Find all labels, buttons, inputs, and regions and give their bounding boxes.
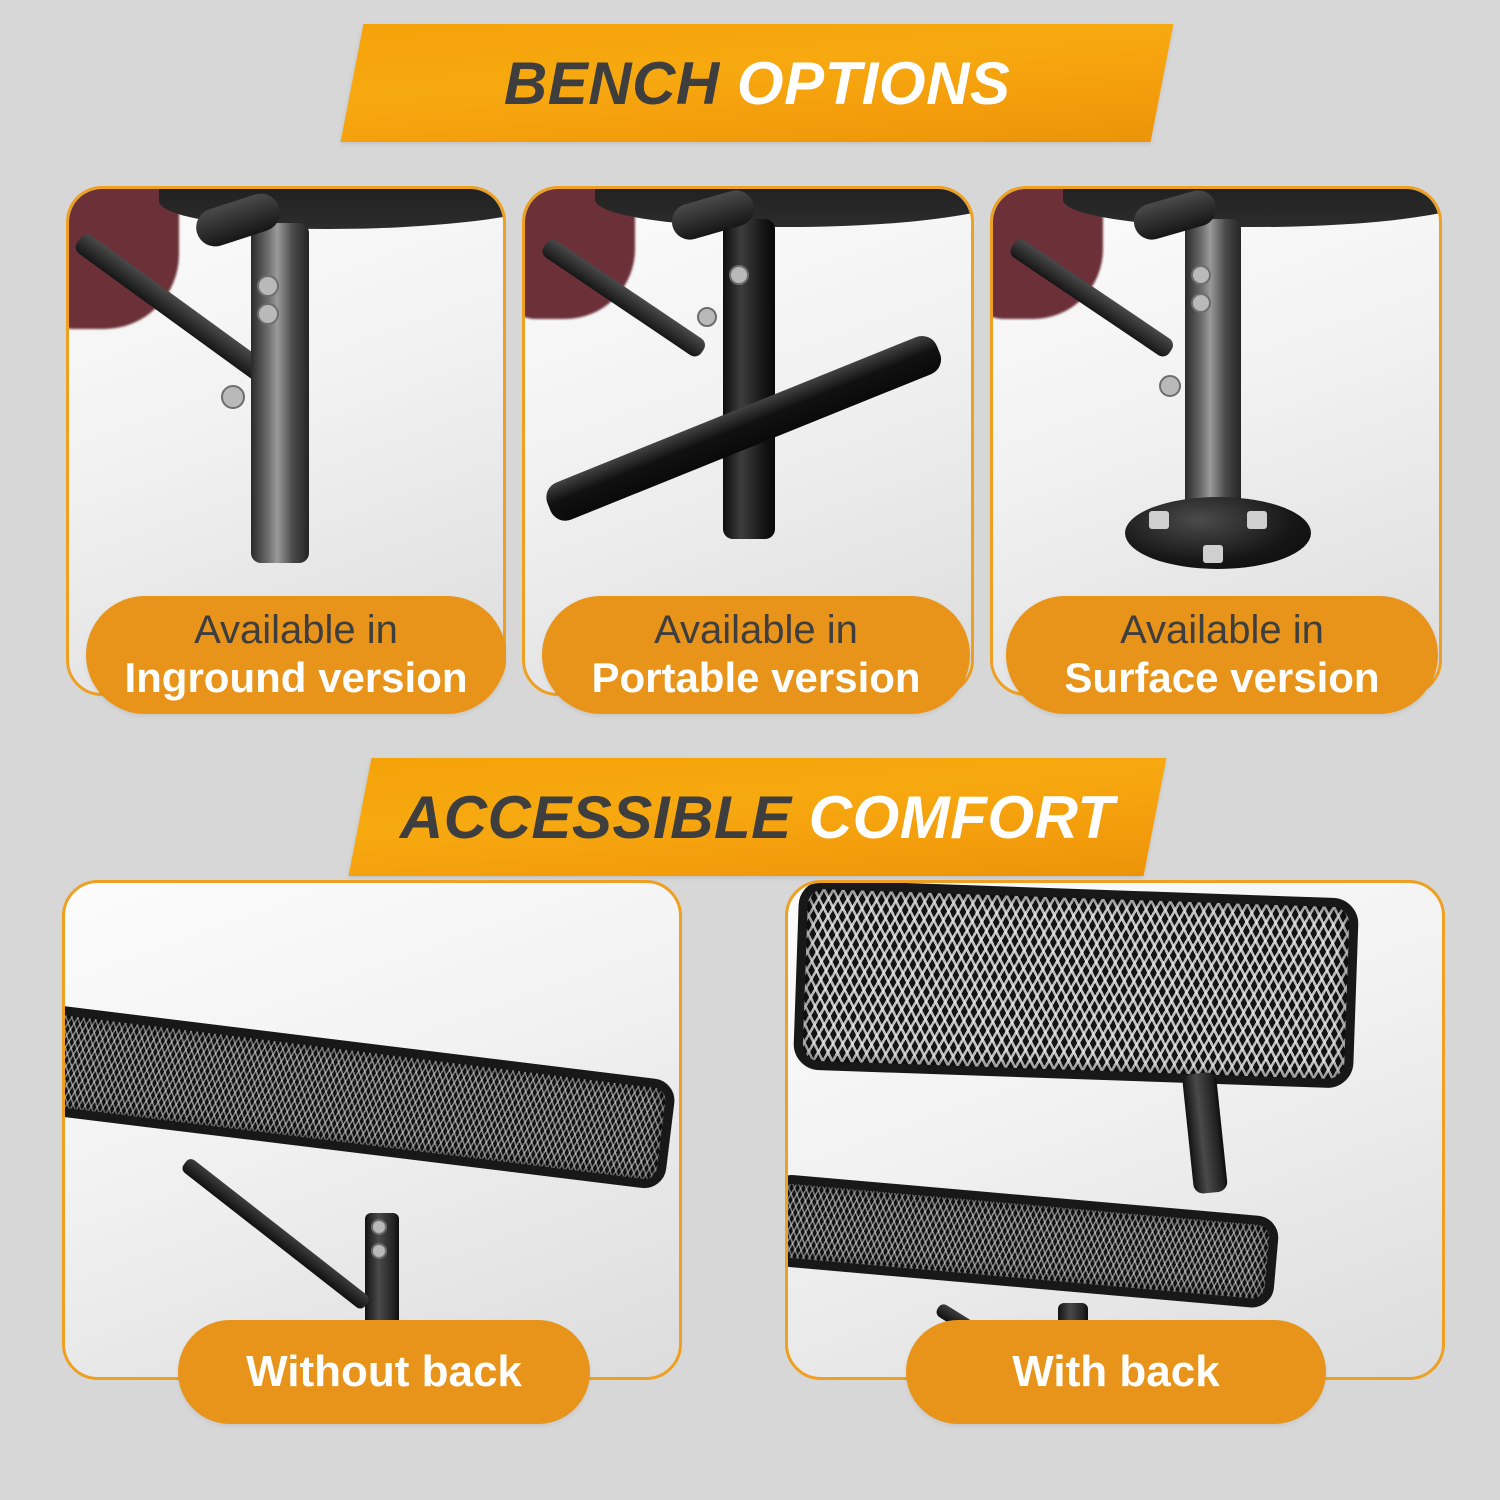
bolt-upper bbox=[257, 275, 279, 297]
caption-pill-without-back: Without back bbox=[178, 1320, 590, 1424]
tabletop-shape bbox=[1063, 186, 1442, 227]
caption-line-1: Available in bbox=[194, 608, 398, 654]
bolt-brace bbox=[221, 385, 245, 409]
bolt-brace bbox=[697, 307, 717, 327]
banner-word-dark: ACCESSIBLE bbox=[400, 784, 792, 851]
leg-post bbox=[251, 223, 309, 563]
caption-pill-with-back: With back bbox=[906, 1320, 1326, 1424]
caption-pill-inground: Available in Inground version bbox=[86, 596, 506, 714]
section-banner-accessible-comfort: ACCESSIBLE COMFORT bbox=[349, 758, 1167, 876]
caption-text: Without back bbox=[246, 1348, 522, 1396]
photo-card-with-back bbox=[785, 880, 1445, 1380]
bolt-upper bbox=[729, 265, 749, 285]
bench-seat-panel bbox=[785, 1173, 1280, 1309]
bench-seat-panel bbox=[62, 1003, 677, 1190]
caption-line-1: Available in bbox=[1120, 608, 1324, 654]
banner-word-dark: BENCH bbox=[504, 50, 720, 117]
infographic-page: BENCH OPTIONS Available in Inground vers… bbox=[0, 0, 1500, 1500]
bench-back-panel bbox=[793, 880, 1359, 1089]
anchor-bolt-right bbox=[1247, 511, 1267, 529]
banner-word-light: COMFORT bbox=[809, 784, 1115, 851]
caption-pill-portable: Available in Portable version bbox=[542, 596, 970, 714]
leg-post bbox=[723, 219, 775, 539]
caption-line-2: Surface version bbox=[1064, 654, 1379, 702]
leg-post bbox=[1185, 219, 1241, 529]
anchor-bolt-front bbox=[1203, 545, 1223, 563]
anchor-bolt-left bbox=[1149, 511, 1169, 529]
tabletop-shape bbox=[595, 186, 974, 227]
section-banner-bench-options: BENCH OPTIONS bbox=[341, 24, 1174, 142]
banner-word-light: OPTIONS bbox=[737, 50, 1011, 117]
bolt-lower bbox=[257, 303, 279, 325]
caption-line-1: Available in bbox=[654, 608, 858, 654]
caption-pill-surface: Available in Surface version bbox=[1006, 596, 1438, 714]
bolt-upper bbox=[371, 1219, 387, 1235]
caption-line-2: Portable version bbox=[591, 654, 920, 702]
bolt-brace bbox=[1159, 375, 1181, 397]
bolt-lower bbox=[371, 1243, 387, 1259]
photo-card-without-back bbox=[62, 880, 682, 1380]
bench-diagonal-brace bbox=[180, 1157, 371, 1311]
caption-line-2: Inground version bbox=[124, 654, 467, 702]
bolt-upper bbox=[1191, 265, 1211, 285]
backrest-support-bracket bbox=[1182, 1072, 1228, 1195]
bench-with-back-photo bbox=[788, 883, 1442, 1377]
bolt-lower bbox=[1191, 293, 1211, 313]
caption-text: With back bbox=[1012, 1348, 1219, 1396]
bench-without-back-photo bbox=[65, 883, 679, 1377]
